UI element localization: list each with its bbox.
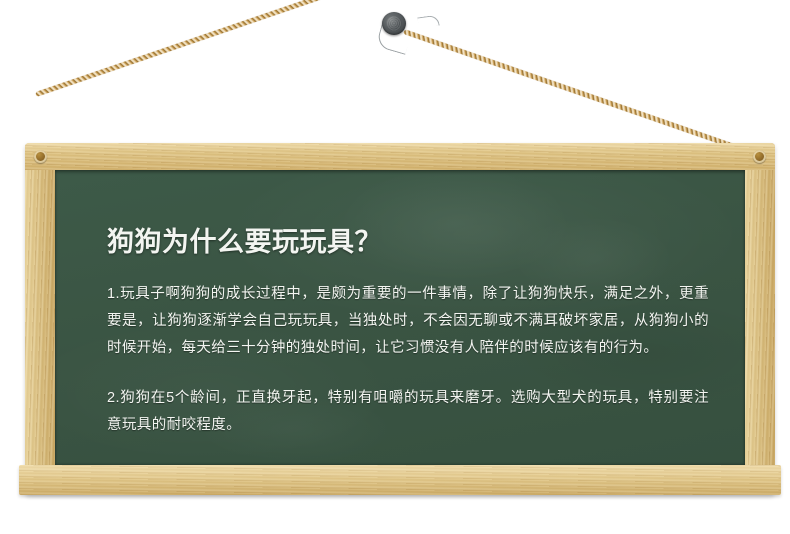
wire-hook-right-icon <box>417 15 439 29</box>
chalkboard-surface: 狗狗为什么要玩玩具？ 1.玩具子啊狗狗的成长过程中，是颇为重要的一件事情，除了让… <box>55 170 745 465</box>
frame-right-stile <box>745 143 775 495</box>
paragraph-2: 2.狗狗在5个龄间，正直换牙起，特别有咀嚼的玩具来磨牙。选购大型犬的玩具，特别要… <box>107 385 709 439</box>
chalkboard-scene: 狗狗为什么要玩玩具？ 1.玩具子啊狗狗的成长过程中，是颇为重要的一件事情，除了让… <box>0 0 790 534</box>
hanging-rope-left-icon <box>35 0 377 97</box>
paragraph-1: 1.玩具子啊狗狗的成长过程中，是颇为重要的一件事情，除了让狗狗快乐，满足之外，更… <box>107 281 709 362</box>
frame-eyelet-right-icon <box>753 150 766 163</box>
page-title: 狗狗为什么要玩玩具？ <box>107 220 709 259</box>
frame-left-stile <box>25 143 55 495</box>
hanging-rope-right-icon <box>403 29 745 152</box>
nail-head-icon <box>382 12 406 35</box>
chalkboard-content: 狗狗为什么要玩玩具？ 1.玩具子啊狗狗的成长过程中，是颇为重要的一件事情，除了让… <box>107 220 709 439</box>
frame-top-rail <box>25 143 775 170</box>
frame-chalk-tray <box>19 465 781 495</box>
frame-eyelet-left-icon <box>34 150 47 163</box>
chalkboard: 狗狗为什么要玩玩具？ 1.玩具子啊狗狗的成长过程中，是颇为重要的一件事情，除了让… <box>25 143 775 495</box>
